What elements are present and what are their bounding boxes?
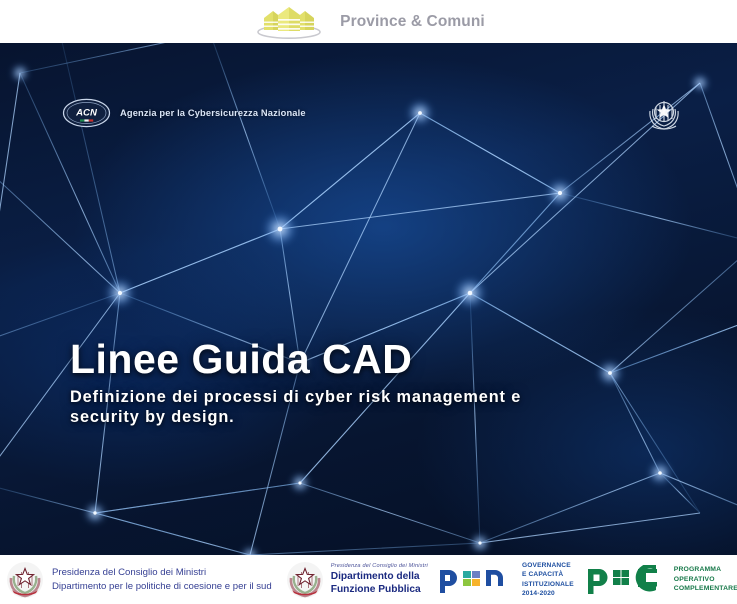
top-brand-bar: Province & Comuni	[0, 0, 737, 43]
slide-page: Province & Comuni	[0, 0, 737, 604]
poc-caption-line-1: PROGRAMMA	[674, 565, 737, 574]
pon-caption-line-3: ISTITUZIONALE	[522, 580, 574, 589]
page-title: Linee Guida CAD	[70, 338, 540, 381]
acn-lockup: ACN Agenzia per la Cybersicurezza Nazion…	[62, 98, 306, 128]
hero-banner: ACN Agenzia per la Cybersicurezza Nazion…	[0, 43, 737, 555]
acn-label: Agenzia per la Cybersicurezza Nazionale	[120, 108, 306, 118]
footer-block-presidenza-coesione: Presidenza del Consiglio dei Ministri Di…	[0, 555, 272, 604]
acn-emblem-icon: ACN	[62, 98, 111, 128]
italian-republic-emblem-icon	[286, 561, 324, 599]
footer-line-1: Presidenza del Consiglio dei Ministri	[52, 566, 272, 580]
three-houses-logo	[252, 4, 326, 40]
footer-line-1: Dipartimento della	[331, 570, 428, 583]
footer-logo-bar: Presidenza del Consiglio dei Ministri Di…	[0, 555, 737, 604]
pon-logo-icon	[438, 565, 516, 595]
footer-block-poc: PROGRAMMA OPERATIVO COMPLEMENTARE	[574, 555, 737, 604]
footer-text-presidenza-coesione: Presidenza del Consiglio dei Ministri Di…	[52, 566, 272, 594]
footer-block-funzione-pubblica: Presidenza del Consiglio dei Ministri Di…	[272, 555, 428, 604]
pon-caption-line-1: GOVERNANCE	[522, 561, 574, 570]
footer-block-pon: GOVERNANCE E CAPACITÀ ISTITUZIONALE 2014…	[428, 555, 574, 604]
footer-line-2: Funzione Pubblica	[331, 583, 428, 596]
svg-text:ACN: ACN	[75, 107, 98, 118]
pon-caption-line-4: 2014-2020	[522, 589, 574, 598]
poc-logo-icon	[586, 565, 668, 595]
footer-text-funzione-pubblica: Presidenza del Consiglio dei Ministri Di…	[331, 563, 428, 596]
pon-caption-line-2: E CAPACITÀ	[522, 570, 574, 579]
pon-caption: GOVERNANCE E CAPACITÀ ISTITUZIONALE 2014…	[522, 561, 574, 597]
brand-title: Province & Comuni	[340, 13, 485, 31]
poc-caption: PROGRAMMA OPERATIVO COMPLEMENTARE	[674, 565, 737, 593]
italian-republic-emblem-icon	[643, 95, 685, 135]
page-subtitle: Definizione dei processi di cyber risk m…	[70, 388, 540, 428]
hero-title-block: Linee Guida CAD Definizione dei processi…	[70, 338, 540, 428]
italian-republic-emblem-icon	[6, 561, 44, 599]
poc-caption-line-3: COMPLEMENTARE	[674, 584, 737, 593]
footer-line-2: Dipartimento per le politiche di coesion…	[52, 580, 272, 594]
poc-caption-line-2: OPERATIVO	[674, 575, 737, 584]
footer-preline: Presidenza del Consiglio dei Ministri	[331, 563, 428, 569]
